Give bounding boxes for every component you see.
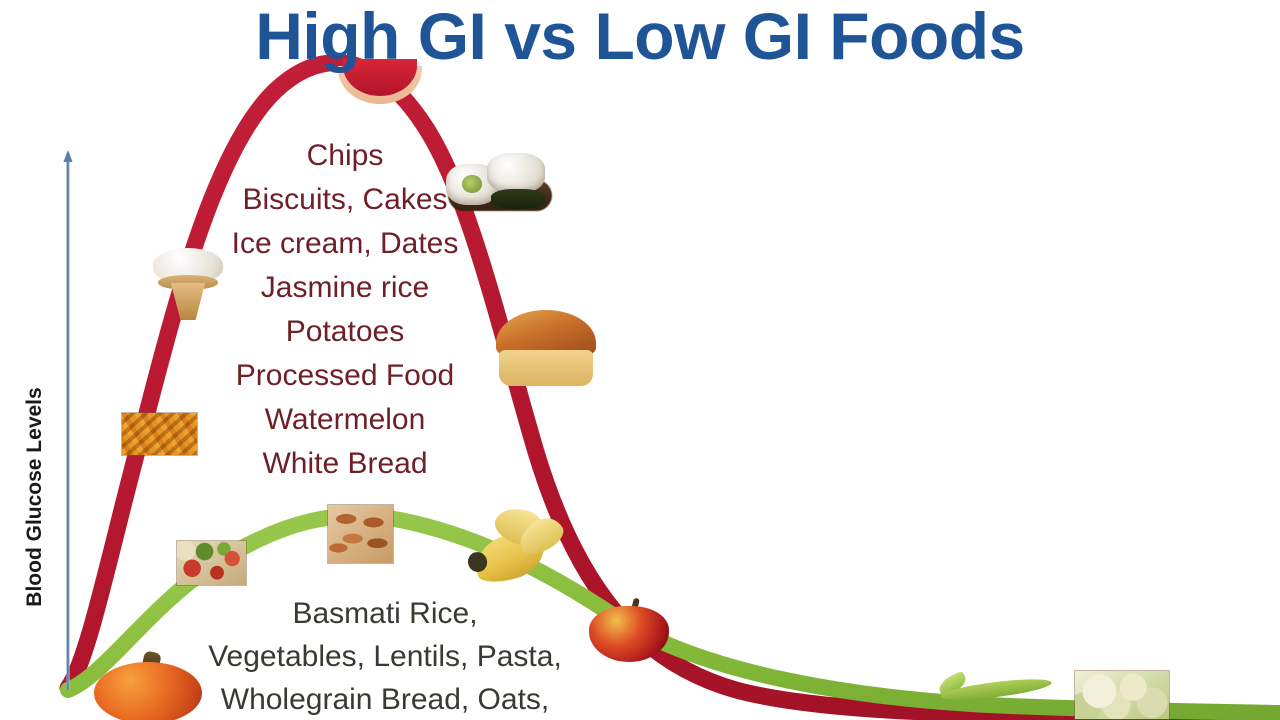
y-axis-arrow bbox=[63, 150, 73, 690]
infographic-canvas: High GI vs Low GI Foods Blood Glucose Le… bbox=[0, 0, 1280, 720]
high-gi-item: Biscuits, Cakes bbox=[150, 178, 540, 222]
cauliflower-image bbox=[1074, 670, 1170, 720]
y-axis-label: Blood Glucose Levels bbox=[23, 322, 47, 672]
banana-image bbox=[468, 512, 564, 588]
low-gi-item: Vegetables, Lentils, Pasta, bbox=[150, 635, 620, 678]
high-gi-item: Chips bbox=[150, 134, 540, 178]
page-title: High GI vs Low GI Foods bbox=[0, 0, 1280, 74]
high-gi-item: White Bread bbox=[150, 442, 540, 486]
nuts-image bbox=[327, 504, 394, 564]
low-gi-item: Basmati Rice, bbox=[150, 592, 620, 635]
high-gi-item: Processed Food bbox=[150, 354, 540, 398]
low-gi-food-list: Basmati Rice, Vegetables, Lentils, Pasta… bbox=[150, 592, 620, 720]
high-gi-food-list: Chips Biscuits, Cakes Ice cream, Dates J… bbox=[150, 134, 540, 486]
high-gi-item: Potatoes bbox=[150, 310, 540, 354]
high-gi-item: Jasmine rice bbox=[150, 266, 540, 310]
green-bean-image bbox=[940, 672, 1052, 708]
high-gi-item: Ice cream, Dates bbox=[150, 222, 540, 266]
high-gi-item: Watermelon bbox=[150, 398, 540, 442]
salad-vegetables-image bbox=[176, 540, 247, 586]
low-gi-item: Wholegrain Bread, Oats, bbox=[150, 678, 620, 720]
